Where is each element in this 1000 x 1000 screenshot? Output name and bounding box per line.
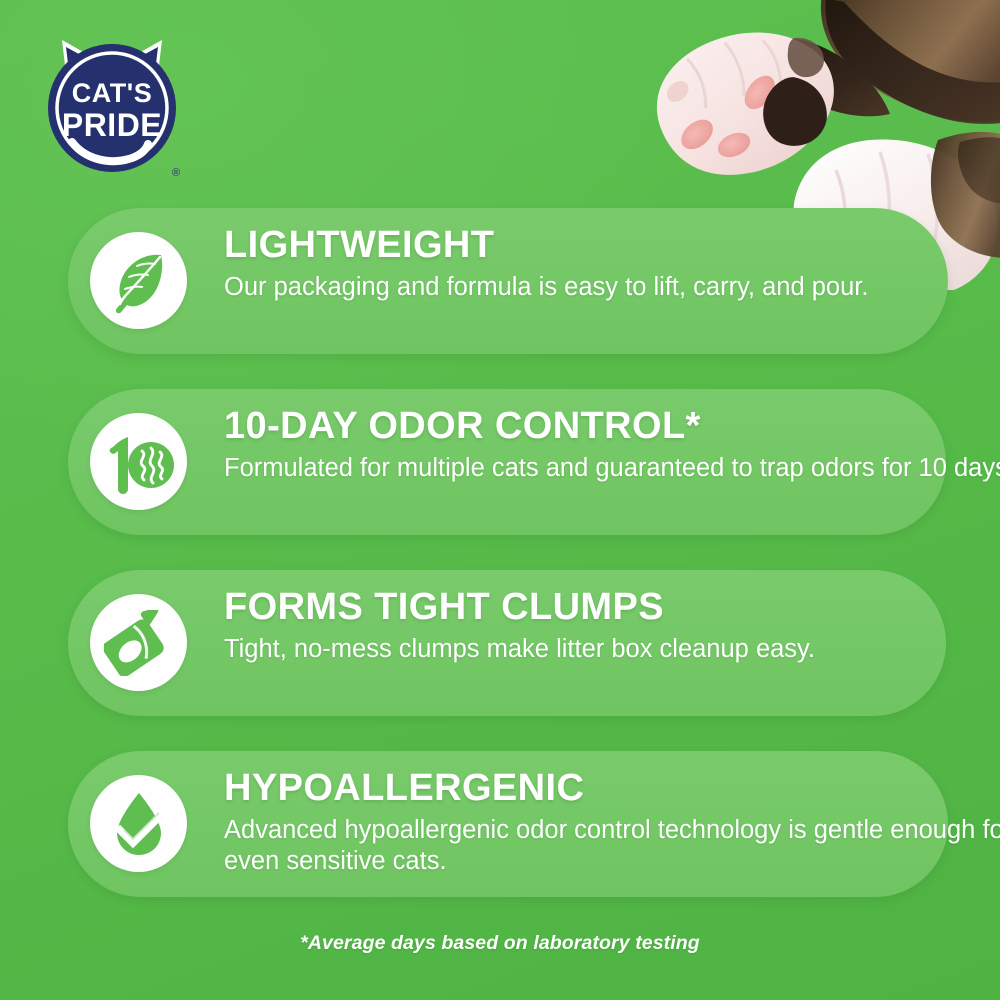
feature-title: 10-DAY ODOR CONTROL*: [224, 403, 1000, 449]
feature-title: HYPOALLERGENIC: [224, 765, 1000, 811]
feature-text: HYPOALLERGENIC Advanced hypoallergenic o…: [224, 765, 1000, 877]
cats-pride-logo: CAT'S PRIDE ®: [36, 30, 188, 182]
footnote-disclaimer: *Average days based on laboratory testin…: [0, 932, 1000, 955]
droplet-check-icon: [90, 775, 187, 872]
feather-icon: [90, 232, 187, 329]
litter-scoop-icon: [90, 594, 187, 691]
logo-line-2: PRIDE: [62, 107, 162, 143]
feature-text: FORMS TIGHT CLUMPS Tight, no-mess clumps…: [224, 584, 1000, 665]
product-feature-infographic: CAT'S PRIDE ® LIGHTWEIGHT Our p: [0, 0, 1000, 1000]
feature-title: LIGHTWEIGHT: [224, 222, 1000, 268]
feature-description: Our packaging and formula is easy to lif…: [224, 272, 1000, 303]
logo-line-1: CAT'S: [72, 78, 152, 108]
feature-description: Formulated for multiple cats and guarant…: [224, 453, 1000, 484]
feature-description: Advanced hypoallergenic odor control tec…: [224, 815, 1000, 877]
feature-description: Tight, no-mess clumps make litter box cl…: [224, 634, 1000, 665]
feature-title: FORMS TIGHT CLUMPS: [224, 584, 1000, 630]
ten-day-odor-icon: [90, 413, 187, 510]
feature-text: 10-DAY ODOR CONTROL* Formulated for mult…: [224, 403, 1000, 484]
feature-text: LIGHTWEIGHT Our packaging and formula is…: [224, 222, 1000, 303]
registered-mark: ®: [172, 167, 180, 179]
